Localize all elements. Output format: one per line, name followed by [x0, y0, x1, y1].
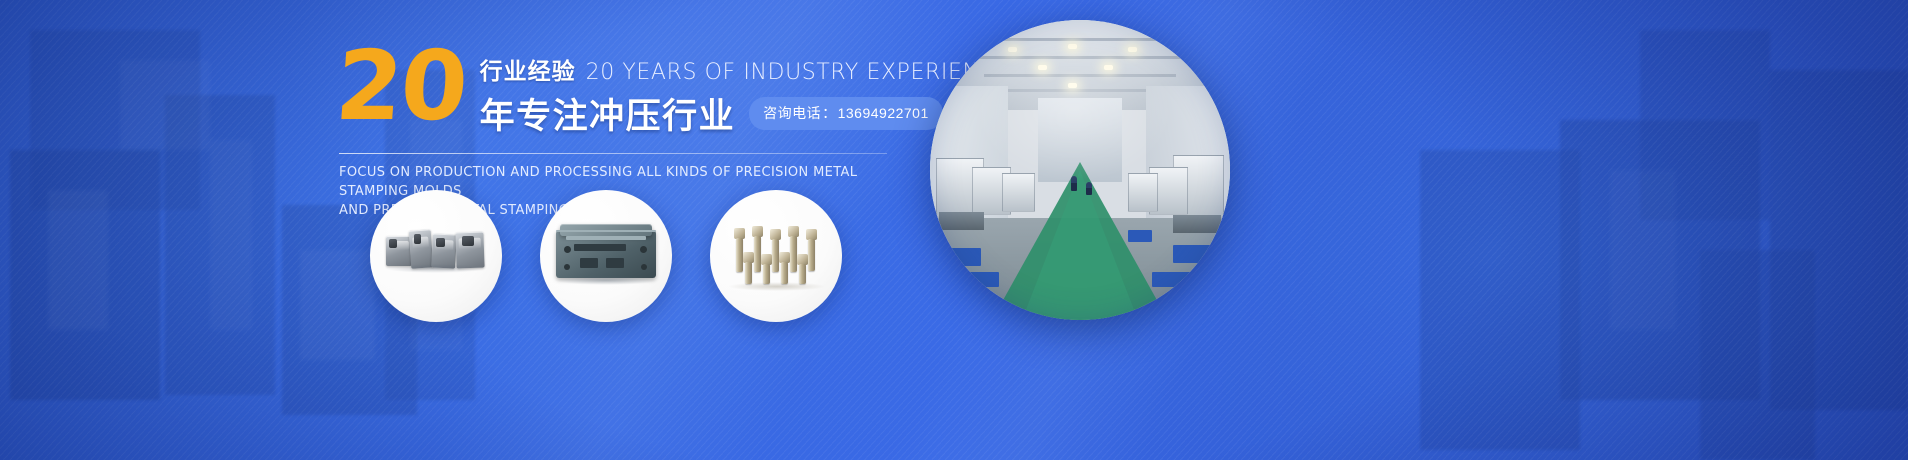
product-circle-metal-pins — [710, 190, 842, 322]
phone-badge-separator: ： — [822, 103, 837, 123]
years-number: 20 — [333, 46, 468, 127]
headline-cn-main: 年专注冲压行业 — [480, 88, 736, 139]
hero-banner: 20 行业经验 20 YEARS OF INDUSTRY EXPERIENCE … — [0, 0, 1908, 460]
headline-cn-subtitle: 行业经验 — [480, 52, 576, 86]
product-circle-connectors — [370, 190, 502, 322]
phone-badge-number: 13694922701 — [838, 105, 929, 121]
product-circle-stamping-mold — [540, 190, 672, 322]
divider-line — [339, 153, 887, 154]
headline-row: 20 行业经验 20 YEARS OF INDUSTRY EXPERIENCE … — [336, 36, 896, 139]
phone-badge[interactable]: 咨询电话 ： 13694922701 — [749, 97, 943, 130]
phone-badge-label: 咨询电话 — [763, 103, 821, 123]
factory-photo-circle — [930, 20, 1230, 320]
